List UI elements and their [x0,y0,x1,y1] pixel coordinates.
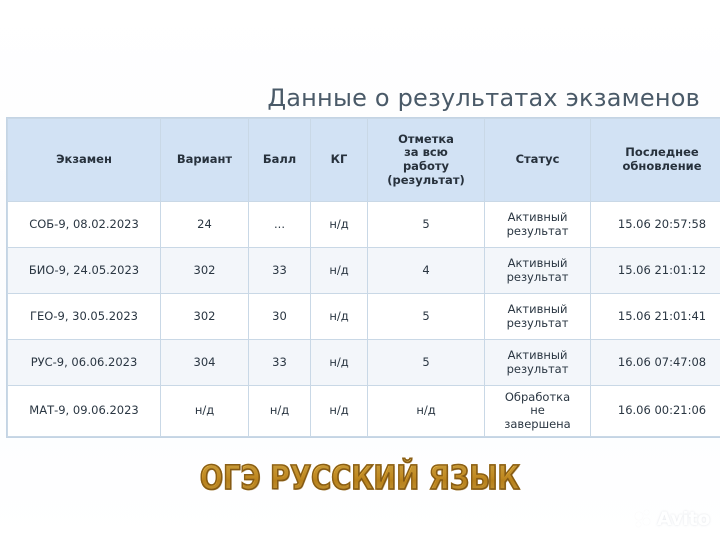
status-line-1: Активный [508,348,568,362]
table-row[interactable]: МАТ-9, 09.06.2023 н/д н/д н/д н/д Обрабо… [8,386,720,437]
cell-mark: 5 [368,294,485,340]
status-line-1: Активный [508,302,568,316]
status-line-2: результат [507,270,569,284]
screenshot-canvas: Данные о результатах экзаменов Экзамен В… [0,0,720,540]
cell-variant: н/д [161,386,249,437]
cell-updated: 15.06 21:01:41 [591,294,720,340]
cell-mark: 5 [368,340,485,386]
cell-exam: РУС-9, 06.06.2023 [8,340,161,386]
status-badge: Активный результат [485,340,591,386]
cell-kg: н/д [311,202,368,248]
column-header-status[interactable]: Статус [485,119,591,202]
cell-updated: 16.06 00:21:06 [591,386,720,437]
column-header-score[interactable]: Балл [249,119,311,202]
cell-exam: МАТ-9, 09.06.2023 [8,386,161,437]
cell-variant: 302 [161,248,249,294]
table-row[interactable]: БИО-9, 24.05.2023 302 33 н/д 4 Активный … [8,248,720,294]
status-badge: Активный результат [485,294,591,340]
column-header-mark[interactable]: Отметка за всю работу (результат) [368,119,485,202]
status-line-2: результат [507,362,569,376]
column-header-updated[interactable]: Последнее обновление [591,119,720,202]
cell-kg: н/д [311,248,368,294]
status-badge: Активный результат [485,248,591,294]
page-title: Данные о результатах экзаменов [0,84,712,112]
column-header-kg[interactable]: КГ [311,119,368,202]
table-row[interactable]: ГЕО-9, 30.05.2023 302 30 н/д 5 Активный … [8,294,720,340]
cell-score: 30 [249,294,311,340]
cell-kg: н/д [311,340,368,386]
avito-dots-icon [635,510,653,528]
table-body: СОБ-9, 08.02.2023 24 ... н/д 5 Активный … [8,202,720,437]
table-header: Экзамен Вариант Балл КГ Отметка за всю р… [8,119,720,202]
column-header-mark-line-4: (результат) [387,173,465,187]
status-line-1: Активный [508,210,568,224]
status-line-3: завершена [504,417,570,431]
avito-watermark-label: Avito [657,508,710,530]
cell-kg: н/д [311,386,368,437]
promo-banner-text: ОГЭ РУССКИЙ ЯЗЫК [200,458,520,497]
cell-score: 33 [249,340,311,386]
column-header-mark-line-2: за всю [404,145,448,159]
cell-variant: 304 [161,340,249,386]
cell-variant: 24 [161,202,249,248]
exam-results-table: Экзамен Вариант Балл КГ Отметка за всю р… [7,118,720,437]
cell-updated: 16.06 07:47:08 [591,340,720,386]
cell-mark: 5 [368,202,485,248]
status-badge: Обработка не завершена [485,386,591,437]
avito-watermark: Avito [635,508,710,530]
status-line-2: результат [507,224,569,238]
column-header-variant[interactable]: Вариант [161,119,249,202]
cell-variant: 302 [161,294,249,340]
status-line-2: результат [507,316,569,330]
status-badge: Активный результат [485,202,591,248]
cell-mark: н/д [368,386,485,437]
table-row[interactable]: СОБ-9, 08.02.2023 24 ... н/д 5 Активный … [8,202,720,248]
status-line-1: Обработка [505,390,570,404]
table-row[interactable]: РУС-9, 06.06.2023 304 33 н/д 5 Активный … [8,340,720,386]
promo-banner: ОГЭ РУССКИЙ ЯЗЫК [0,458,720,497]
cell-score: н/д [249,386,311,437]
cell-exam: СОБ-9, 08.02.2023 [8,202,161,248]
column-header-updated-line-1: Последнее [625,145,698,159]
status-line-2: не [530,403,545,417]
table-header-row: Экзамен Вариант Балл КГ Отметка за всю р… [8,119,720,202]
column-header-mark-line-1: Отметка [398,132,454,146]
cell-updated: 15.06 20:57:58 [591,202,720,248]
cell-score: ... [249,202,311,248]
cell-mark: 4 [368,248,485,294]
cell-updated: 15.06 21:01:12 [591,248,720,294]
column-header-exam[interactable]: Экзамен [8,119,161,202]
cell-kg: н/д [311,294,368,340]
cell-score: 33 [249,248,311,294]
column-header-mark-line-3: работу [403,159,449,173]
status-line-1: Активный [508,256,568,270]
cell-exam: БИО-9, 24.05.2023 [8,248,161,294]
exam-results-table-container: Экзамен Вариант Балл КГ Отметка за всю р… [7,118,720,409]
column-header-updated-line-2: обновление [622,159,701,173]
cell-exam: ГЕО-9, 30.05.2023 [8,294,161,340]
